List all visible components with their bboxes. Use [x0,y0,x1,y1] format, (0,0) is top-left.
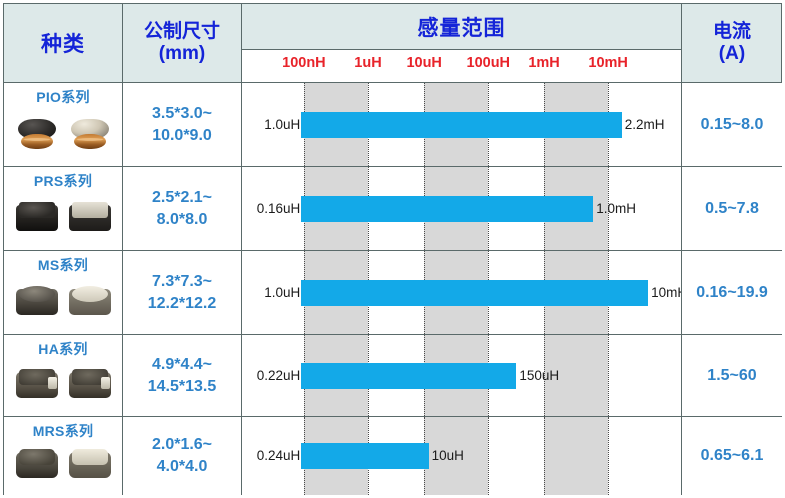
scale-tick-label-4: 1mH [528,55,559,71]
current-value-label: 0.15~8.0 [682,83,782,166]
header-range-title: 感量范围 [242,4,681,50]
header-cell-type: 种类 [4,4,123,82]
cell-series-type: HA系列 [4,335,123,416]
product-photos [10,359,116,410]
series-name-label: MRS系列 [4,421,122,441]
size-line2: 4.0*4.0 [157,456,208,478]
header-size-line2: (mm) [144,43,220,65]
scale-tick-label-0: 100nH [282,55,326,71]
product-photo-2 [67,282,113,322]
size-line2: 8.0*8.0 [157,209,208,231]
current-value-label: 0.65~6.1 [682,417,782,495]
gridline-5 [608,417,609,495]
table-header: 种类 公制尺寸 (mm) 感量范围 100nH1uH10uH100uH1mH10… [4,4,781,82]
product-photos [10,191,116,244]
current-value-label: 0.16~19.9 [682,251,782,334]
size-text: 2.0*1.6~4.0*4.0 [123,417,241,495]
product-photo-2 [67,198,113,238]
product-photo-1 [14,198,60,238]
cell-metric-size: 2.0*1.6~4.0*4.0 [123,417,242,495]
range-bar [301,280,648,306]
range-end-label: 150uH [516,366,559,386]
range-end-label: 10mH [648,283,682,303]
product-photos [10,107,116,160]
scale-tick-label-5: 10mH [588,55,628,71]
series-name-label: PIO系列 [4,87,122,107]
table-row: MRS系列2.0*1.6~4.0*4.00.24uH10uH0.65~6.1 [4,416,781,495]
table-row: PRS系列2.5*2.1~8.0*8.00.16uH1.0mH0.5~7.8 [4,166,781,250]
product-photos [10,275,116,328]
cell-inductance-range-chart: 1.0uH10mH [242,251,682,334]
product-photo-2 [67,445,113,485]
size-line1: 7.3*7.3~ [152,271,212,293]
cell-current-rating: 0.16~19.9 [682,251,782,334]
product-photo-2 [67,365,113,405]
product-photo-2 [67,114,113,154]
size-line1: 2.0*1.6~ [152,434,212,456]
size-line1: 3.5*3.0~ [152,103,212,125]
range-start-label: 1.0uH [264,283,301,303]
range-start-label: 1.0uH [264,115,301,135]
cell-current-rating: 0.15~8.0 [682,83,782,166]
range-end-label: 2.2mH [622,115,665,135]
cell-metric-size: 2.5*2.1~8.0*8.0 [123,167,242,250]
header-cell-size: 公制尺寸 (mm) [123,4,242,82]
header-size-line1: 公制尺寸 [144,21,220,43]
cell-inductance-range-chart: 0.22uH150uH [242,335,682,416]
cell-series-type: MRS系列 [4,417,123,495]
cell-inductance-range-chart: 0.24uH10uH [242,417,682,495]
size-line1: 2.5*2.1~ [152,187,212,209]
range-end-label: 10uH [429,446,464,466]
inductor-spec-table: 种类 公制尺寸 (mm) 感量范围 100nH1uH10uH100uH1mH10… [3,3,782,495]
range-end-label: 1.0mH [593,199,636,219]
gridline-5 [608,335,609,416]
range-bar [301,363,516,389]
product-photo-1 [14,365,60,405]
size-line2: 10.0*9.0 [152,125,212,147]
range-bar [301,196,593,222]
product-photos [10,441,116,489]
table-row: MS系列7.3*7.3~12.2*12.21.0uH10mH0.16~19.9 [4,250,781,334]
table-row: PIO系列3.5*3.0~10.0*9.01.0uH2.2mH0.15~8.0 [4,82,781,166]
size-line2: 14.5*13.5 [148,376,217,398]
range-start-label: 0.16uH [257,199,302,219]
scale-tick-label-1: 1uH [354,55,381,71]
cell-inductance-range-chart: 1.0uH2.2mH [242,83,682,166]
size-text: 4.9*4.4~14.5*13.5 [123,335,241,416]
size-text: 3.5*3.0~10.0*9.0 [123,83,241,166]
cell-series-type: PRS系列 [4,167,123,250]
scale-tick-label-3: 100uH [467,55,511,71]
product-photo-1 [14,282,60,322]
cell-metric-size: 4.9*4.4~14.5*13.5 [123,335,242,416]
series-name-label: MS系列 [4,255,122,275]
range-start-label: 0.22uH [257,366,302,386]
current-value-label: 1.5~60 [682,335,782,416]
header-cell-current: 电流 (A) [682,4,782,82]
header-current-line2: (A) [713,43,751,65]
header-current-line1: 电流 [713,21,751,43]
product-photo-1 [14,114,60,154]
scale-tick-label-2: 10uH [406,55,441,71]
size-line1: 4.9*4.4~ [152,354,212,376]
size-text: 7.3*7.3~12.2*12.2 [123,251,241,334]
gridline-4 [544,417,545,495]
range-start-label: 0.24uH [257,446,302,466]
range-scale-axis: 100nH1uH10uH100uH1mH10mH [242,50,681,82]
range-bar [301,112,621,138]
size-line2: 12.2*12.2 [148,293,217,315]
cell-current-rating: 0.65~6.1 [682,417,782,495]
decade-band-2 [544,417,608,495]
size-text: 2.5*2.1~8.0*8.0 [123,167,241,250]
table-row: HA系列4.9*4.4~14.5*13.50.22uH150uH1.5~60 [4,334,781,416]
range-bar [301,443,428,469]
current-value-label: 0.5~7.8 [682,167,782,250]
cell-inductance-range-chart: 0.16uH1.0mH [242,167,682,250]
cell-series-type: PIO系列 [4,83,123,166]
series-name-label: PRS系列 [4,171,122,191]
cell-current-rating: 1.5~60 [682,335,782,416]
gridline-3 [488,417,489,495]
cell-series-type: MS系列 [4,251,123,334]
cell-metric-size: 7.3*7.3~12.2*12.2 [123,251,242,334]
series-name-label: HA系列 [4,339,122,359]
product-photo-1 [14,445,60,485]
header-cell-range: 感量范围 100nH1uH10uH100uH1mH10mH [242,4,682,82]
cell-current-rating: 0.5~7.8 [682,167,782,250]
cell-metric-size: 3.5*3.0~10.0*9.0 [123,83,242,166]
